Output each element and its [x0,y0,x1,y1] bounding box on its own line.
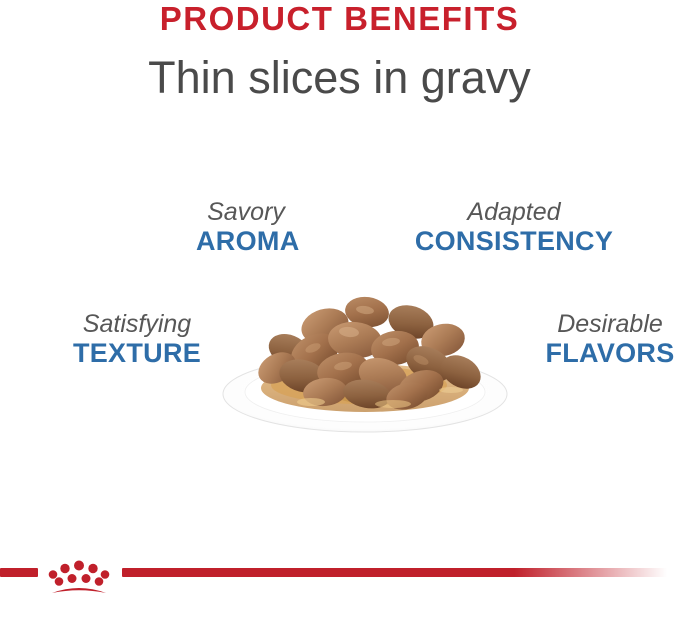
brand-rule-right [122,568,667,577]
benefit-texture-term: TEXTURE [66,338,208,368]
benefit-flavors: Desirable FLAVORS [541,310,679,368]
benefit-aroma: Savory AROMA [196,198,296,256]
product-benefits-panel: PRODUCT BENEFITS Thin slices in gravy Sa… [0,0,679,620]
brand-rule-left [0,568,38,577]
benefit-flavors-qualifier: Desirable [541,310,679,338]
benefit-aroma-qualifier: Savory [196,198,296,226]
benefit-aroma-term: AROMA [196,226,296,256]
product-food-image [215,268,515,440]
benefit-texture-qualifier: Satisfying [66,310,208,338]
page-title: Thin slices in gravy [0,52,679,104]
royal-canin-crown-logo [42,552,116,596]
benefit-consistency-qualifier: Adapted [408,198,620,226]
benefit-consistency: Adapted CONSISTENCY [408,198,620,256]
eyebrow-heading: PRODUCT BENEFITS [0,2,679,37]
brand-footer [0,552,679,598]
benefit-texture: Satisfying TEXTURE [66,310,208,368]
benefit-consistency-term: CONSISTENCY [408,226,620,256]
benefit-flavors-term: FLAVORS [541,338,679,368]
